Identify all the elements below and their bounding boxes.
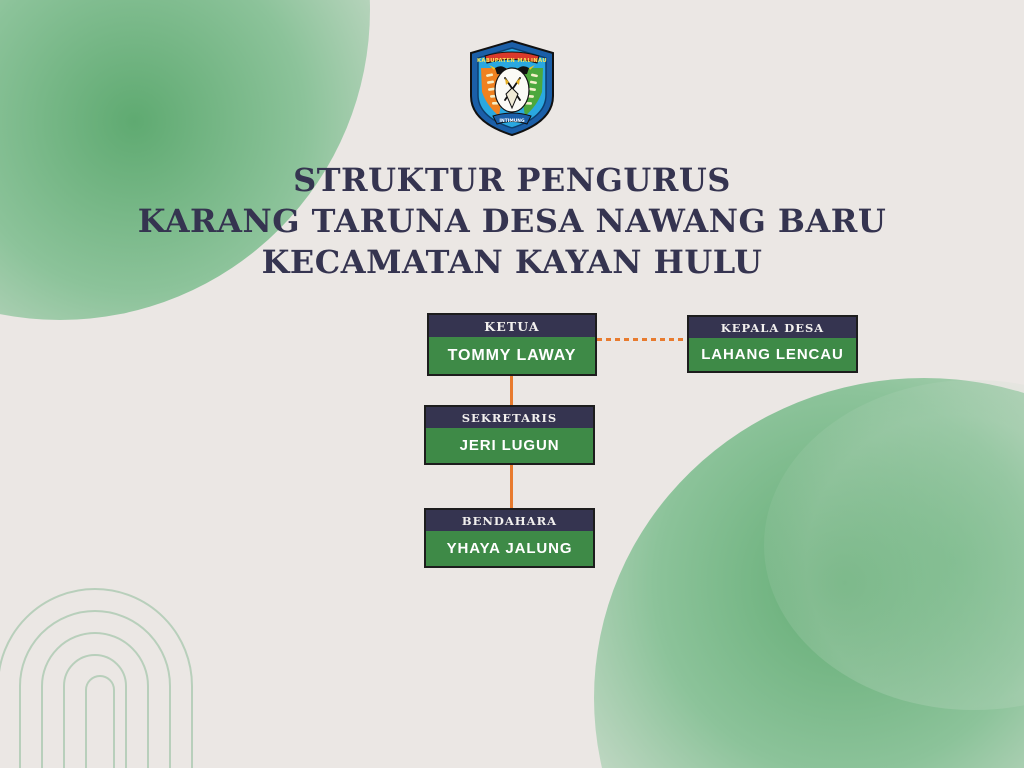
connector-ketua-to-sekretaris: [510, 376, 513, 406]
connector-ketua-to-kepala-desa: [597, 338, 687, 341]
connector-sekretaris-to-bendahara: [510, 465, 513, 509]
org-node-person-name: JERI LUGUN: [426, 428, 593, 463]
org-node-role-label: SEKRETARIS: [426, 407, 593, 428]
org-node-person-name: TOMMY LAWAY: [429, 337, 595, 374]
org-node-role-label: KEPALA DESA: [689, 317, 856, 338]
org-node-ketua[interactable]: KETUA TOMMY LAWAY: [427, 313, 597, 376]
org-node-role-label: BENDAHARA: [426, 510, 593, 531]
org-node-person-name: YHAYA JALUNG: [426, 531, 593, 566]
org-node-person-name: LAHANG LENCAU: [689, 338, 856, 371]
org-node-sekretaris[interactable]: SEKRETARIS JERI LUGUN: [424, 405, 595, 465]
org-node-kepala-desa[interactable]: KEPALA DESA LAHANG LENCAU: [687, 315, 858, 373]
org-node-bendahara[interactable]: BENDAHARA YHAYA JALUNG: [424, 508, 595, 568]
org-node-role-label: KETUA: [429, 315, 595, 337]
org-chart: KETUA TOMMY LAWAY KEPALA DESA LAHANG LEN…: [0, 0, 1024, 768]
